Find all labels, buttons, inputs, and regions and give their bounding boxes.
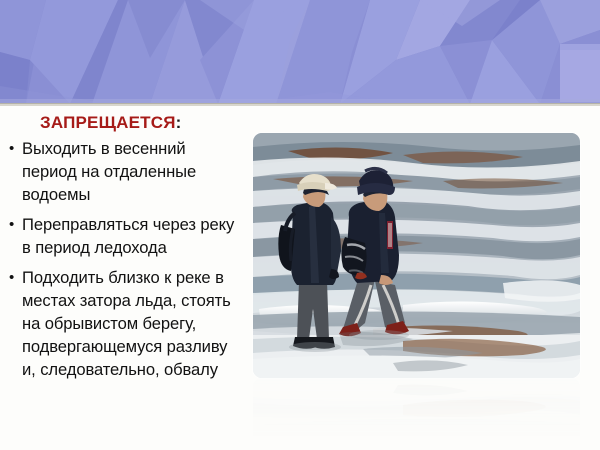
ice-drift-photo [253, 133, 580, 378]
list-item-text: Переправляться через реку в период ледох… [22, 215, 234, 257]
reflection-icon [253, 378, 580, 444]
list-item: • Переправляться через реку в период лед… [0, 213, 250, 259]
photo-container [253, 133, 580, 378]
list-item-text: Подходить близко к реке в местах затора … [22, 268, 231, 379]
bullet-marker-icon: • [9, 213, 14, 236]
low-poly-pattern-icon [0, 0, 600, 104]
list-item: • Выходить в весенний период на отдаленн… [0, 137, 250, 206]
slide: ЗАПРЕЩАЕТСЯ: • Выходить в весенний перио… [0, 0, 600, 450]
page-title-text: ЗАПРЕЩАЕТСЯ [40, 113, 176, 132]
header-divider-rule [0, 103, 600, 106]
prohibition-list: • Выходить в весенний период на отдаленн… [0, 137, 250, 381]
list-item: • Подходить близко к реке в местах затор… [0, 266, 250, 381]
bullet-marker-icon: • [9, 137, 14, 160]
page-title: ЗАПРЕЩАЕТСЯ: [40, 113, 250, 133]
page-title-colon: : [176, 113, 182, 132]
list-item-text: Выходить в весенний период на отдаленные… [22, 139, 196, 204]
ice-river-scene-icon [253, 133, 580, 378]
bullet-marker-icon: • [9, 266, 14, 289]
photo-reflection [253, 378, 580, 444]
slide-header-banner [0, 0, 600, 104]
content-text-column: ЗАПРЕЩАЕТСЯ: • Выходить в весенний перио… [0, 110, 250, 450]
